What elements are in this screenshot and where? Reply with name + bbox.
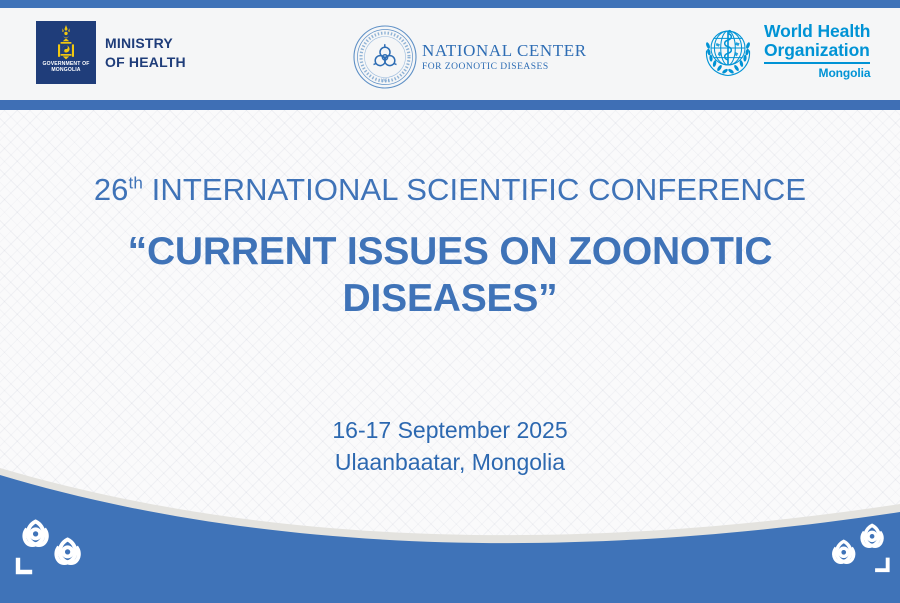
header-separator-bar [0, 100, 900, 110]
soyombo-icon [53, 24, 79, 64]
ministry-name-line1: MINISTRY [105, 34, 186, 53]
who-mongolia-logo: World Health Organization Mongolia [700, 22, 870, 80]
biohazard-seal-icon: 1951 [352, 24, 418, 90]
ministry-of-health-name: MINISTRY OF HEALTH [105, 34, 186, 71]
who-country-label: Mongolia [764, 66, 870, 80]
ministry-name-line2: OF HEALTH [105, 53, 186, 72]
nczd-wordmark: NATIONAL CENTER FOR ZOONOTIC DISEASES [422, 41, 587, 73]
soyombo-state-emblem-icon: GOVERNMENT OF MONGOLIA [36, 21, 96, 84]
who-name-line1: World Health [764, 22, 870, 41]
conference-number: 26 [94, 172, 129, 207]
who-name-line2: Organization [764, 41, 870, 60]
conference-theme-line1: “CURRENT ISSUES ON ZOONOTIC [0, 228, 900, 276]
top-accent-bar [0, 0, 900, 8]
who-divider-rule [764, 62, 870, 64]
conference-heading: 26th INTERNATIONAL SCIENTIFIC CONFERENCE [0, 172, 900, 208]
ministry-of-health-logo: GOVERNMENT OF MONGOLIA MINISTRY OF HEALT… [36, 21, 186, 84]
seal-year: 1951 [380, 78, 390, 83]
who-wordmark: World Health Organization Mongolia [764, 22, 870, 80]
conference-label: INTERNATIONAL SCIENTIFIC CONFERENCE [143, 172, 806, 207]
event-date: 16-17 September 2025 [0, 415, 900, 447]
emblem-caption-line2: MONGOLIA [36, 67, 96, 73]
mongolian-knot-ornament-right [815, 519, 893, 577]
national-center-zoonotic-diseases-logo: 1951 NATIONAL CENTER FOR ZOONOTIC DISEAS… [352, 24, 587, 90]
mongolian-knot-ornament-left [12, 516, 100, 578]
emblem-caption: GOVERNMENT OF MONGOLIA [36, 61, 96, 73]
conference-ordinal: th [129, 174, 143, 193]
conference-theme-line2: DISEASES” [0, 275, 900, 323]
conference-theme: “CURRENT ISSUES ON ZOONOTIC DISEASES” [0, 228, 900, 323]
nczd-name-line2: FOR ZOONOTIC DISEASES [422, 62, 587, 73]
who-emblem-icon [700, 24, 756, 80]
nczd-name-line1: NATIONAL CENTER [422, 41, 587, 60]
title-block: 26th INTERNATIONAL SCIENTIFIC CONFERENCE… [0, 172, 900, 323]
footer-decoration [0, 468, 900, 603]
conference-title-slide: GOVERNMENT OF MONGOLIA MINISTRY OF HEALT… [0, 0, 900, 603]
